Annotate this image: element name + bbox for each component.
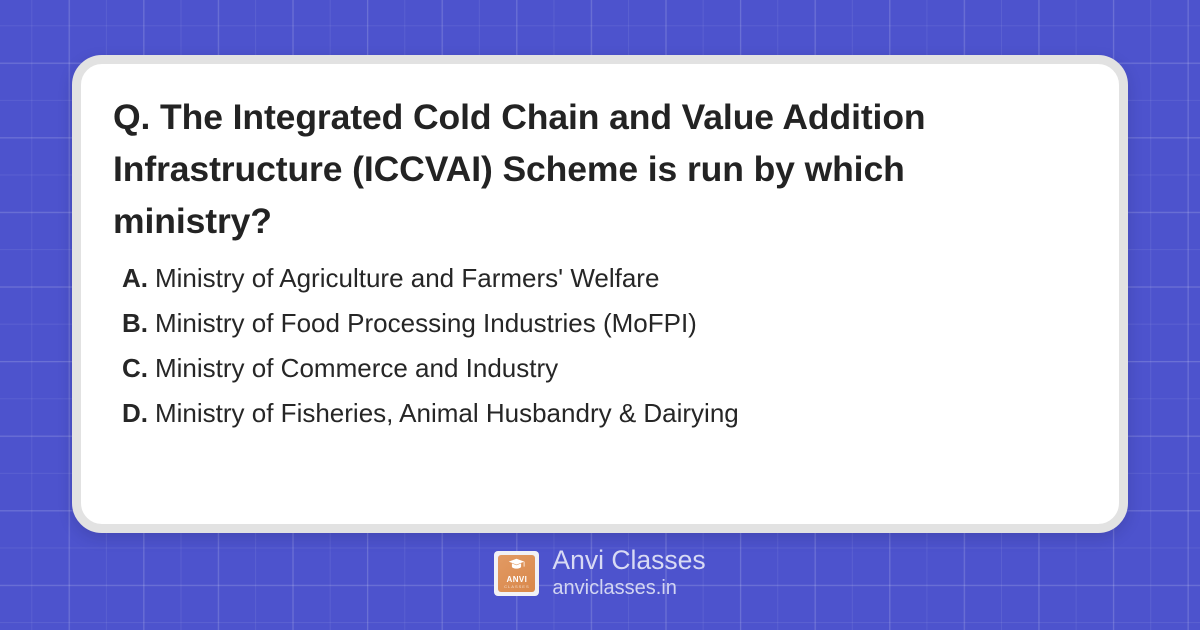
option-c-text: Ministry of Commerce and Industry [155, 346, 558, 391]
option-b-text: Ministry of Food Processing Industries (… [155, 301, 697, 346]
graduation-cap-icon [508, 557, 525, 575]
option-d-text: Ministry of Fisheries, Animal Husbandry … [155, 391, 739, 436]
question-text: Q. The Integrated Cold Chain and Value A… [113, 91, 1003, 247]
options-list: A. Ministry of Agriculture and Farmers' … [122, 256, 1082, 436]
option-b[interactable]: B. Ministry of Food Processing Industrie… [122, 301, 1082, 346]
option-a-letter: A. [122, 256, 148, 301]
brand-name: Anvi Classes [552, 546, 705, 575]
option-d[interactable]: D. Ministry of Fisheries, Animal Husband… [122, 391, 1082, 436]
brand-logo-sub: CLASSES [504, 584, 529, 590]
brand-logo: ANVI CLASSES [494, 551, 539, 596]
option-a[interactable]: A. Ministry of Agriculture and Farmers' … [122, 256, 1082, 301]
option-a-text: Ministry of Agriculture and Farmers' Wel… [155, 256, 659, 301]
brand-url: anviclasses.in [552, 576, 705, 600]
option-d-letter: D. [122, 391, 148, 436]
question-card: Q. The Integrated Cold Chain and Value A… [72, 55, 1128, 533]
option-c-letter: C. [122, 346, 148, 391]
option-c[interactable]: C. Ministry of Commerce and Industry [122, 346, 1082, 391]
option-b-letter: B. [122, 301, 148, 346]
footer-branding: ANVI CLASSES Anvi Classes anviclasses.in [0, 546, 1200, 600]
brand-text-block: Anvi Classes anviclasses.in [552, 546, 705, 600]
brand-logo-tile: ANVI CLASSES [498, 555, 535, 592]
brand-logo-word: ANVI [507, 575, 528, 584]
